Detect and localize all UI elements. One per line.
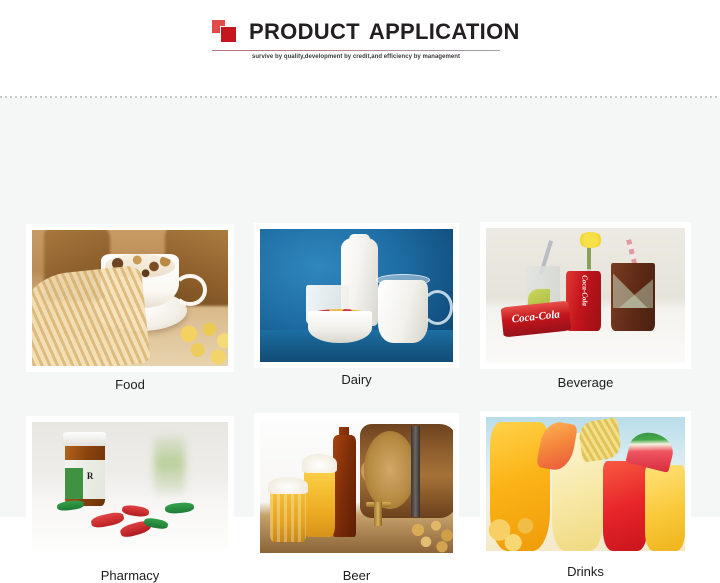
product-card-pharmacy[interactable]: R: [26, 416, 234, 556]
product-application-grid: Food Dairy Coca-Cola: [0, 98, 720, 517]
dairy-photo: [260, 229, 453, 362]
cup-handle: [173, 274, 206, 306]
product-card-beer[interactable]: [254, 413, 459, 559]
title-word-product: PRODUCT: [249, 19, 360, 44]
milk-jug: [378, 280, 428, 344]
red-capsule-2: [122, 505, 151, 519]
beer-photo: [260, 419, 453, 553]
card-label-beer: Beer: [254, 568, 459, 583]
ice-cubes: [613, 267, 653, 308]
milk-jug-handle: [422, 290, 453, 325]
blurred-background-object: [154, 435, 185, 494]
fruit-pile-foreground: [486, 516, 554, 551]
green-capsule-3: [165, 501, 195, 514]
red-capsule-1: [90, 511, 125, 529]
slide-header: PRODUCTAPPLICATION survive by quality,de…: [0, 0, 720, 96]
cola-wordmark-standing: Coca-Cola: [580, 275, 587, 307]
beverage-photo: Coca-Cola Coca-Cola: [486, 228, 685, 363]
tall-glass-foam: [302, 454, 337, 473]
tall-beer-glass: [304, 467, 335, 537]
barrel-metal-band: [411, 426, 421, 517]
card-label-food: Food: [26, 377, 234, 392]
yellow-smoothie-glass: [645, 465, 685, 551]
bottle-cap: [63, 432, 106, 446]
title-underline-rule: [212, 50, 500, 51]
title-word-application: APPLICATION: [369, 19, 520, 44]
mug-foam: [268, 477, 309, 494]
header-title-block: PRODUCTAPPLICATION survive by quality,de…: [212, 17, 500, 47]
food-photo: [32, 230, 228, 366]
card-label-drinks: Drinks: [480, 564, 691, 579]
logo-square-dark: [220, 26, 237, 43]
card-label-dairy: Dairy: [254, 372, 459, 387]
pharmacy-photo: R: [32, 422, 228, 550]
pineapple-garnish: [577, 417, 622, 462]
cereal-bowl: [308, 311, 372, 343]
green-capsule-1: [57, 500, 85, 512]
product-card-beverage[interactable]: Coca-Cola Coca-Cola: [480, 222, 691, 369]
beer-mug: [270, 489, 307, 543]
pasta-pile: [177, 320, 228, 366]
product-card-food[interactable]: [26, 224, 234, 372]
title-row: PRODUCTAPPLICATION: [212, 17, 500, 47]
product-card-dairy[interactable]: [254, 223, 459, 368]
drinks-photo: [486, 417, 685, 551]
page-title: PRODUCTAPPLICATION: [249, 21, 520, 43]
product-card-drinks[interactable]: [480, 411, 691, 557]
red-smoothie-glass: [603, 461, 647, 551]
bottle-label-green-band: [65, 468, 83, 499]
rx-symbol: R: [87, 471, 94, 481]
header-subtitle: survive by quality,development by credit…: [212, 54, 500, 60]
beer-bottle: [333, 435, 356, 537]
two-red-squares-logo-icon: [212, 19, 242, 45]
wheat-stalks: [32, 265, 150, 366]
card-label-pharmacy: Pharmacy: [26, 568, 234, 583]
yellow-flower: [578, 232, 604, 248]
barley-grain: [407, 518, 453, 553]
barrel-end-face: [364, 431, 416, 509]
barrel-tap: [374, 502, 382, 526]
card-label-beverage: Beverage: [480, 375, 691, 390]
